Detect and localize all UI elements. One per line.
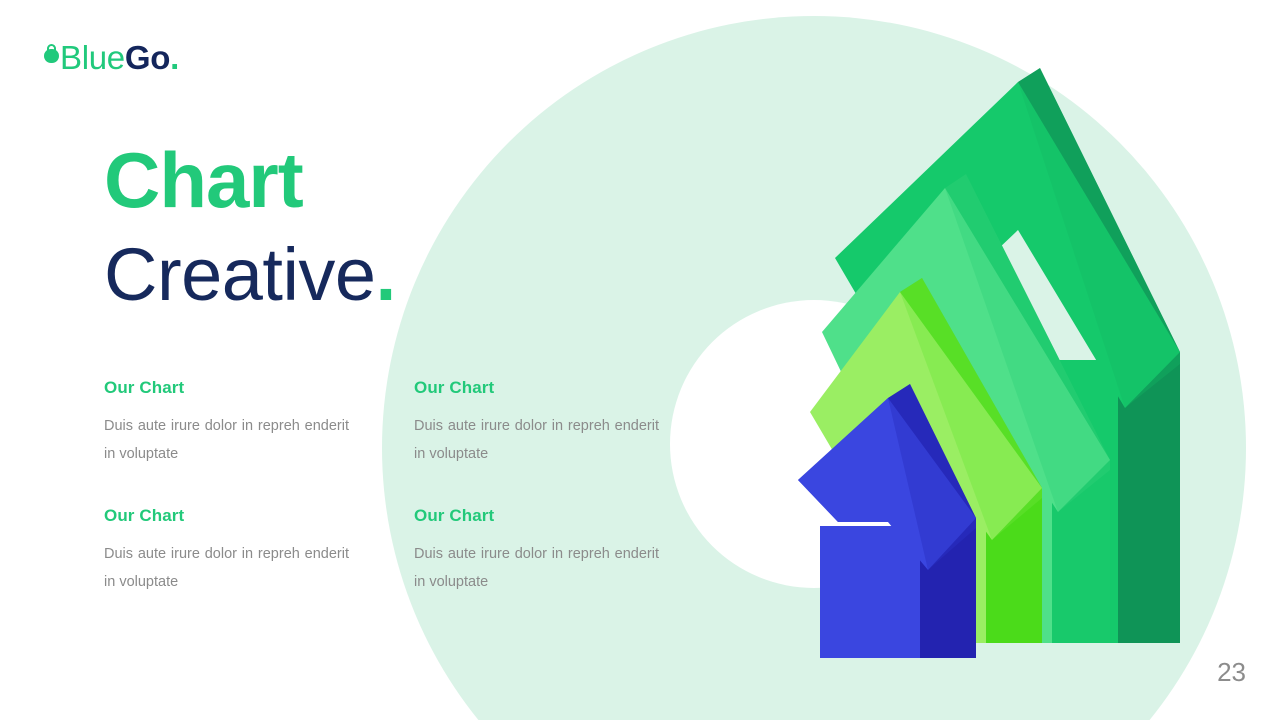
brand-logo[interactable]: BlueGo. [44, 38, 179, 80]
feature-block-4: Our Chart Duis aute irure dolor in repre… [414, 506, 659, 596]
page-title-line-two: Creative. [104, 228, 396, 322]
feature-block-1: Our Chart Duis aute irure dolor in repre… [104, 378, 349, 468]
page-title-line-one: Chart [104, 132, 396, 228]
slide-canvas: BlueGo. Chart Creative. Our Chart Duis a… [0, 0, 1280, 720]
arrows-svg [780, 60, 1200, 670]
feature-title-1: Our Chart [104, 378, 349, 398]
feature-title-2: Our Chart [414, 378, 659, 398]
feature-block-3: Our Chart Duis aute irure dolor in repre… [104, 506, 349, 596]
feature-body-4: Duis aute irure dolor in repreh enderit … [414, 540, 659, 596]
chart-illustration-3d-arrows [780, 60, 1200, 670]
feature-title-3: Our Chart [104, 506, 349, 526]
page-number: 23 [1217, 658, 1246, 686]
page-title-line-two-text: Creative [104, 233, 376, 316]
page-title: Chart Creative. [104, 132, 396, 322]
padlock-body [44, 49, 59, 63]
padlock-icon [44, 43, 59, 63]
feature-block-2: Our Chart Duis aute irure dolor in repre… [414, 378, 659, 468]
feature-title-4: Our Chart [414, 506, 659, 526]
brand-logo-text: BlueGo. [60, 38, 179, 78]
page-title-accent-dot: . [376, 233, 396, 316]
logo-text-dot: . [170, 39, 179, 76]
feature-body-3: Duis aute irure dolor in repreh enderit … [104, 540, 349, 596]
feature-body-1: Duis aute irure dolor in repreh enderit … [104, 412, 349, 468]
feature-body-2: Duis aute irure dolor in repreh enderit … [414, 412, 659, 468]
logo-text-blue: Blue [60, 39, 125, 76]
logo-text-go: Go [125, 39, 170, 76]
arrow-1-front-shaft [820, 526, 920, 658]
